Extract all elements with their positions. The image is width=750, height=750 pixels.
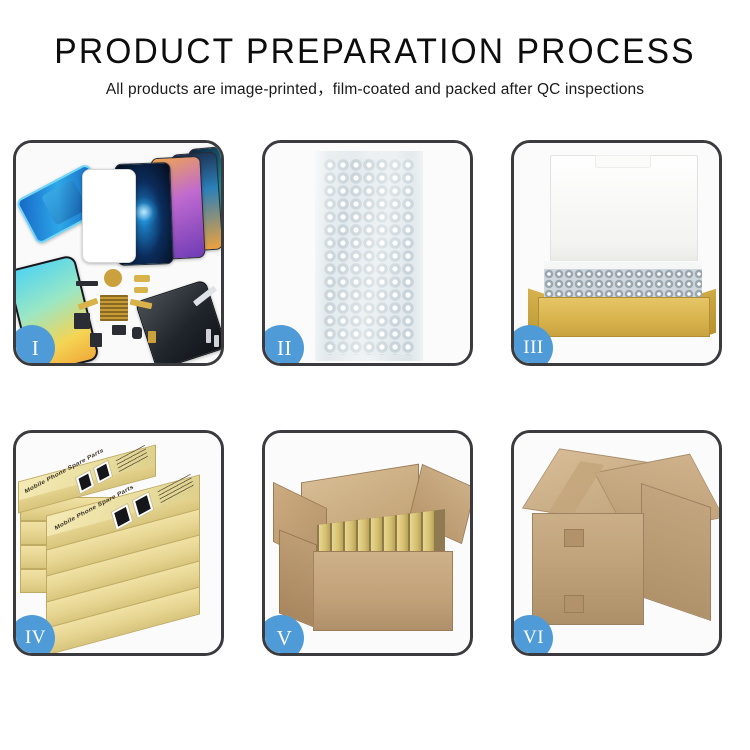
part-tool (214, 335, 219, 347)
part-camera-module (104, 269, 122, 287)
carton-left-face (279, 529, 317, 628)
mailer-box-front (538, 297, 710, 337)
sealed-carton-tab-lower (564, 595, 584, 613)
process-step-panel-5[interactable]: V (262, 430, 473, 656)
process-step-panel-6[interactable]: VI (511, 430, 722, 656)
carton-front-face (313, 551, 453, 631)
process-step-panel-2[interactable]: II (262, 140, 473, 366)
part-screw-set (148, 331, 156, 343)
part-button (112, 325, 126, 335)
mailer-bubble-contents (544, 269, 702, 299)
part-sim-tray-grid (100, 295, 128, 321)
part-screwdriver (206, 329, 211, 343)
page-subtitle: All products are image-printed，film-coat… (0, 82, 750, 98)
carton-edge-seam (313, 551, 314, 629)
part-speaker (76, 281, 98, 286)
bubble-wrap-sleeve (315, 151, 423, 361)
page-title: PRODUCT PREPARATION PROCESS (15, 34, 735, 69)
mailer-box-lid (550, 155, 698, 269)
part-connector (74, 313, 90, 329)
front-glass-panel (82, 169, 136, 263)
process-step-panel-3[interactable]: III (511, 140, 722, 366)
part-flex-cable-2 (134, 287, 148, 293)
part-battery-connector (90, 333, 102, 347)
page-header: PRODUCT PREPARATION PROCESS All products… (0, 0, 750, 98)
sealed-carton-right-face (641, 483, 711, 621)
process-step-panel-4[interactable]: Mobile Phone Spare Parts Mobile Phone Sp… (13, 430, 224, 656)
part-flex-cable-1 (134, 275, 150, 282)
part-taptic (132, 327, 142, 339)
bubble-wrap-sheen (315, 151, 423, 361)
process-step-grid: I II III (13, 140, 737, 656)
process-step-panel-1[interactable]: I (13, 140, 224, 366)
sealed-carton-front-face (532, 513, 644, 625)
sealed-carton-tab-upper (564, 529, 584, 547)
